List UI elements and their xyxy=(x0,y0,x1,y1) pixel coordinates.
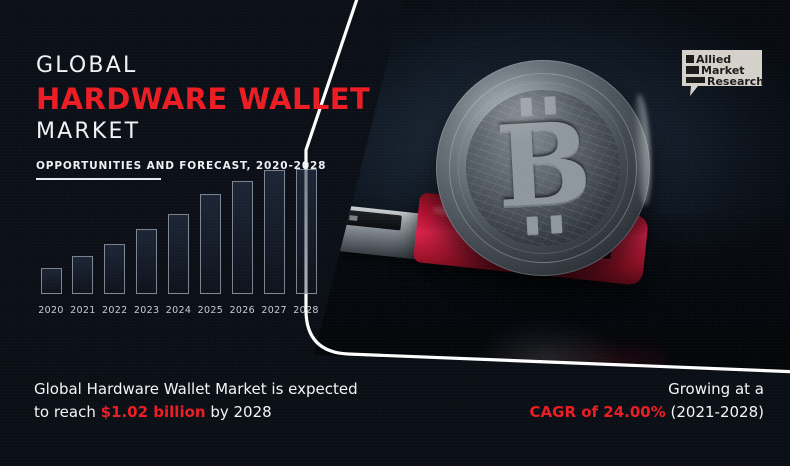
bar-2028 xyxy=(296,169,317,294)
x-label-2023: 2023 xyxy=(132,305,162,316)
chart-bar-2026 xyxy=(227,169,257,294)
footer-right-line1: Growing at a xyxy=(668,380,764,398)
x-label-2025: 2025 xyxy=(195,305,225,316)
footer-left-prefix: to reach xyxy=(34,403,101,421)
bar-2020 xyxy=(41,268,62,294)
title-line-main: HARDWARE WALLET xyxy=(36,82,370,117)
bar-2021 xyxy=(72,256,93,294)
bar-2022 xyxy=(104,244,125,294)
photo-object-reflection xyxy=(416,274,666,370)
chart-x-axis-labels: 202020212022202320242025202620272028 xyxy=(36,305,321,316)
footer-cagr-text: Growing at a CAGR of 24.00% (2021-2028) xyxy=(434,378,764,425)
chart-bar-2022 xyxy=(100,169,130,294)
footer-cagr-value: CAGR of 24.00% xyxy=(530,403,666,421)
x-label-2022: 2022 xyxy=(100,305,130,316)
bitcoin-symbol-icon: B xyxy=(494,108,592,225)
x-label-2028: 2028 xyxy=(291,305,321,316)
chart-bar-2028 xyxy=(291,169,321,294)
bar-2026 xyxy=(232,181,253,294)
bar-2023 xyxy=(136,229,157,294)
chart-bars xyxy=(36,169,321,294)
footer-left-suffix: by 2028 xyxy=(206,403,272,421)
coin-face: B xyxy=(462,86,624,250)
footer-market-size-text: Global Hardware Wallet Market is expecte… xyxy=(34,378,384,425)
chart-bar-2024 xyxy=(164,169,194,294)
title-line-market: MARKET xyxy=(36,118,370,147)
footer-market-value: $1.02 billion xyxy=(101,403,206,421)
bar-2027 xyxy=(264,170,285,294)
bar-2024 xyxy=(168,214,189,294)
bar-2025 xyxy=(200,194,221,294)
infographic-card: B GLOBAL HARDWARE WALLET MARKET OPPORTUN… xyxy=(0,0,790,466)
x-label-2026: 2026 xyxy=(227,305,257,316)
chart-bar-2027 xyxy=(259,169,289,294)
chart-bar-2021 xyxy=(68,169,98,294)
footer-right-period: (2021-2028) xyxy=(666,403,764,421)
allied-market-research-logo[interactable]: Allied Market Research xyxy=(676,46,768,98)
x-label-2024: 2024 xyxy=(164,305,194,316)
title-block: GLOBAL HARDWARE WALLET MARKET OPPORTUNIT… xyxy=(36,52,370,180)
market-forecast-bar-chart: 202020212022202320242025202620272028 xyxy=(36,171,321,316)
x-label-2021: 2021 xyxy=(68,305,98,316)
footer-left-line1: Global Hardware Wallet Market is expecte… xyxy=(34,380,358,398)
x-label-2020: 2020 xyxy=(36,305,66,316)
logo-text-research: Research xyxy=(707,75,764,88)
title-line-global: GLOBAL xyxy=(36,52,370,80)
chart-bar-2020 xyxy=(36,169,66,294)
chart-bar-2025 xyxy=(195,169,225,294)
chart-bar-2023 xyxy=(132,169,162,294)
x-label-2027: 2027 xyxy=(259,305,289,316)
